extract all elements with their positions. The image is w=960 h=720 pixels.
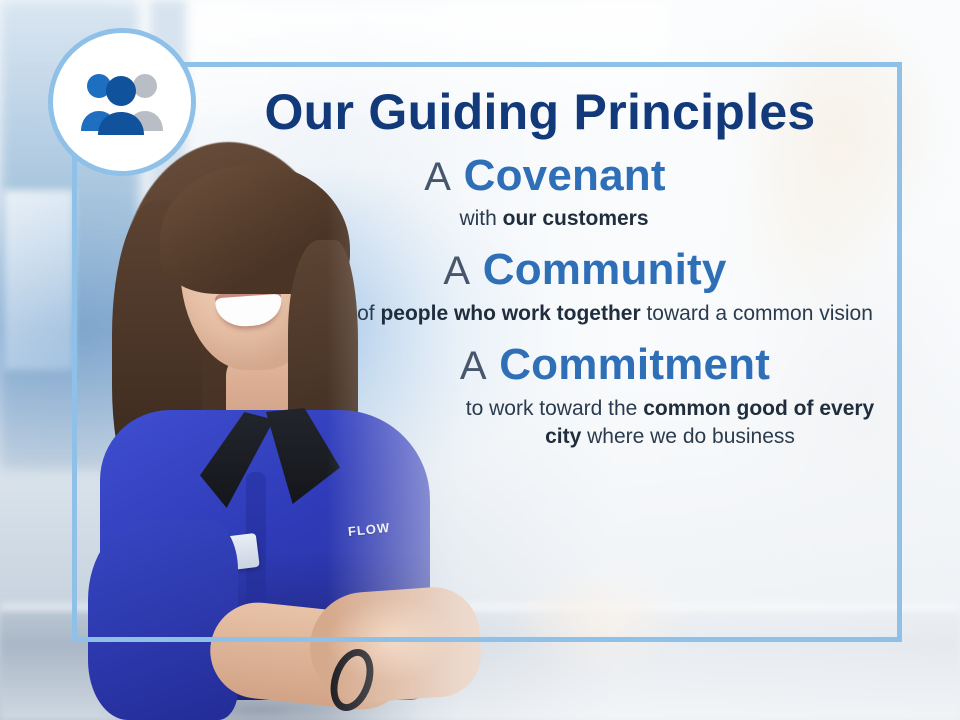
principle-subtext-bold: our customers: [503, 207, 649, 230]
principle-headline: A Covenant: [210, 153, 880, 200]
principle-subtext-suffix: toward a common vision: [641, 302, 873, 325]
text-block: Our Guiding Principles A Covenant with o…: [200, 86, 880, 452]
principle-subtext: of people who work together toward a com…: [290, 300, 880, 328]
principle-community: A Community of people who work together …: [200, 247, 880, 328]
principle-article: A: [424, 155, 451, 199]
principle-subtext-prefix: with: [459, 207, 502, 230]
principle-headline: A Community: [290, 247, 880, 294]
principle-subtext-suffix: where we do business: [581, 425, 795, 448]
principle-subtext-prefix: to work toward the: [466, 397, 643, 420]
principle-article: A: [460, 344, 487, 388]
principle-covenant: A Covenant with our customers: [200, 153, 880, 234]
principle-subtext-prefix: of: [357, 302, 380, 325]
principle-keyword: Covenant: [464, 151, 666, 200]
principle-subtext: with our customers: [210, 205, 880, 233]
promotional-graphic: FLOW FLOW AUTOMOTIVE: [0, 0, 960, 720]
principle-commitment: A Commitment to work toward the common g…: [200, 342, 880, 451]
principle-keyword: Commitment: [499, 340, 770, 389]
principle-article: A: [443, 249, 470, 293]
principle-subtext-bold: people who work together: [380, 302, 640, 325]
principle-headline: A Commitment: [350, 342, 880, 389]
people-group-icon: [75, 69, 169, 135]
page-title: Our Guiding Principles: [200, 86, 880, 139]
icon-badge: [48, 28, 196, 176]
principle-subtext: to work toward the common good of every …: [350, 395, 880, 452]
principle-keyword: Community: [483, 245, 727, 294]
